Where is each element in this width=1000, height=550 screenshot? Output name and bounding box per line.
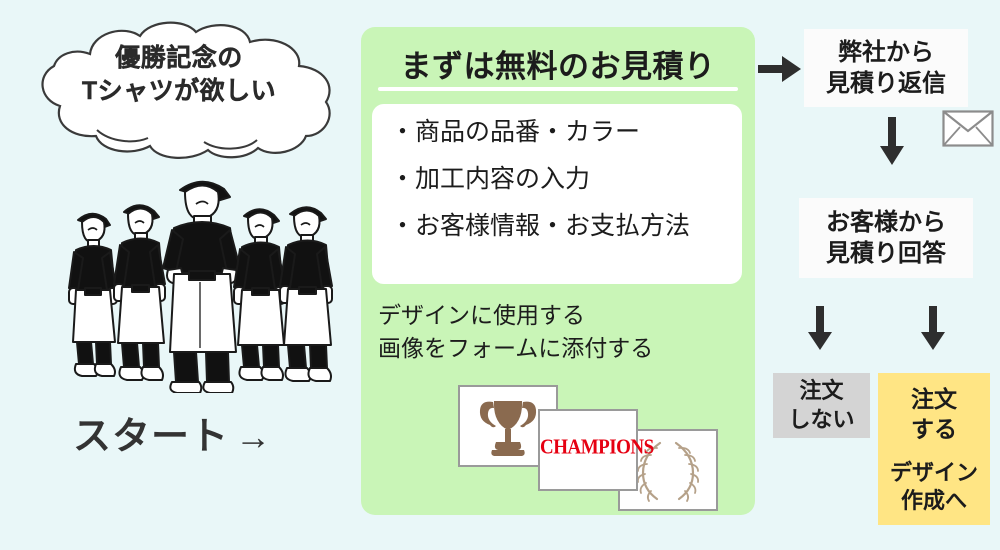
thought-bubble: 優勝記念の Tシャツが欲しい: [18, 18, 340, 163]
thought-line-1: 優勝記念の: [18, 42, 340, 75]
sample-photos: CHAMPIONS: [361, 382, 755, 517]
arrow-down-icon-3: [920, 306, 946, 350]
start-arrow-icon: →: [229, 416, 272, 457]
customer-answer-line-2: 見積り回答: [826, 238, 946, 269]
trophy-icon: [480, 401, 536, 456]
flow-box-accept-order[interactable]: 注文 する デザイン 作成へ: [878, 373, 990, 525]
thought-bubble-text: 優勝記念の Tシャツが欲しい: [18, 42, 340, 108]
left-column: 優勝記念の Tシャツが欲しい: [0, 0, 360, 550]
arrow-right-icon: [758, 54, 802, 84]
company-reply-line-2: 見積り返信: [826, 68, 946, 99]
checklist: ・商品の品番・カラー ・加工内容の入力 ・お客様情報・お支払方法: [390, 120, 730, 261]
customer-answer-line-1: お客様から: [826, 207, 946, 238]
start-label: スタート: [73, 416, 229, 458]
player-2: [114, 205, 165, 380]
attachment-note-line-1: デザインに使用する: [378, 299, 748, 332]
title-underline: [378, 87, 738, 91]
player-1: [69, 214, 117, 376]
champions-caption: CHAMPIONS: [540, 436, 636, 461]
decline-line-2: しない: [788, 406, 854, 435]
flow-box-customer-answer: お客様から 見積り回答: [799, 198, 973, 278]
thought-line-2: Tシャツが欲しい: [18, 75, 340, 108]
quote-request-panel: まずは無料のお見積り ・商品の品番・カラー ・加工内容の入力 ・お客様情報・お支…: [361, 27, 755, 515]
checklist-card: ・商品の品番・カラー ・加工内容の入力 ・お客様情報・お支払方法: [372, 104, 742, 284]
champions-photo: CHAMPIONS: [538, 409, 638, 491]
arrow-down-icon-2: [807, 306, 833, 350]
accept-line-1: 注文: [911, 385, 957, 415]
arrow-down-icon-1: [879, 117, 905, 165]
player-center: [163, 182, 240, 393]
baseball-team-illustration: [52, 178, 352, 393]
flow-column: 弊社から 見積り返信 お客様から 見積り回答: [755, 0, 1000, 550]
player-4: [234, 209, 285, 380]
accept-sub-text: デザイン 作成へ: [890, 459, 978, 515]
company-reply-line-1: 弊社から: [838, 37, 934, 68]
flow-box-company-reply: 弊社から 見積り返信: [804, 29, 968, 107]
start-label-row: スタート→: [0, 405, 345, 460]
flowchart-canvas: 優勝記念の Tシャツが欲しい: [0, 0, 1000, 550]
mail-icon: [942, 110, 994, 147]
player-5: [280, 207, 332, 381]
accept-sub-line-2: 作成へ: [890, 487, 978, 515]
flow-box-decline-order[interactable]: 注文 しない: [773, 373, 870, 438]
accept-line-2: する: [911, 415, 957, 445]
attachment-note: デザインに使用する 画像をフォームに添付する: [378, 299, 748, 364]
attachment-note-line-2: 画像をフォームに添付する: [378, 332, 748, 365]
checklist-item: ・加工内容の入力: [390, 167, 730, 192]
checklist-item: ・商品の品番・カラー: [390, 120, 730, 145]
panel-title: まずは無料のお見積り: [361, 41, 755, 86]
accept-sub-line-1: デザイン: [890, 459, 978, 487]
checklist-item: ・お客様情報・お支払方法: [390, 214, 730, 239]
decline-line-1: 注文: [799, 377, 843, 406]
